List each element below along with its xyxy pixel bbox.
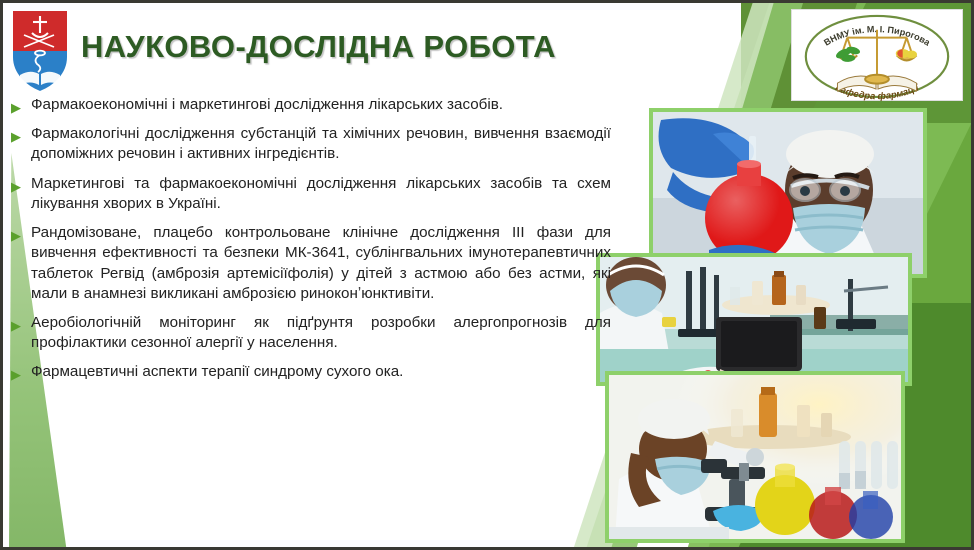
- list-item: ▶ Аеробіологічній моніторинг як підґрунт…: [11, 313, 611, 353]
- triangle-bullet-icon: ▶: [11, 229, 27, 242]
- list-item: ▶ Фармакологічні дослідження субстанцій …: [11, 124, 611, 164]
- list-item-text: Рандомізоване, плацебо контрольоване клі…: [31, 223, 611, 304]
- slide-title: НАУКОВО-ДОСЛІДНА РОБОТА: [81, 29, 556, 65]
- list-item-text: Фармацевтичні аспекти терапії синдрому с…: [31, 362, 611, 382]
- list-item-text: Фармакологічні дослідження субстанцій та…: [31, 124, 611, 164]
- department-logo: ВНМУ ім. М. І. Пирогова Кафедра фармації: [791, 9, 963, 101]
- photo-microscope: [605, 371, 905, 543]
- list-item: ▶ Рандомізоване, плацебо контрольоване к…: [11, 223, 611, 304]
- list-item-text: Маркетингові та фармакоекономічні дослід…: [31, 174, 611, 214]
- presentation-slide: НАУКОВО-ДОСЛІДНА РОБОТА ВНМУ ім. М. І. П…: [0, 0, 974, 550]
- bullet-list: ▶ Фармакоекономічні і маркетингові дослі…: [11, 95, 611, 392]
- triangle-bullet-icon: ▶: [11, 319, 27, 332]
- list-item: ▶ Фармакоекономічні і маркетингові дослі…: [11, 95, 611, 115]
- photo-researcher-tablet: [596, 253, 912, 386]
- triangle-bullet-icon: ▶: [11, 101, 27, 114]
- list-item: ▶ Фармацевтичні аспекти терапії синдрому…: [11, 362, 611, 382]
- list-item-text: Аеробіологічній моніторинг як підґрунтя …: [31, 313, 611, 353]
- triangle-bullet-icon: ▶: [11, 368, 27, 381]
- triangle-bullet-icon: ▶: [11, 130, 27, 143]
- list-item-text: Фармакоекономічні і маркетингові дослідж…: [31, 95, 611, 115]
- capsules-icon: [896, 49, 917, 58]
- university-crest: [9, 7, 71, 95]
- triangle-bullet-icon: ▶: [11, 180, 27, 193]
- list-item: ▶ Маркетингові та фармакоекономічні досл…: [11, 174, 611, 214]
- herb-leaves-icon: [835, 45, 861, 62]
